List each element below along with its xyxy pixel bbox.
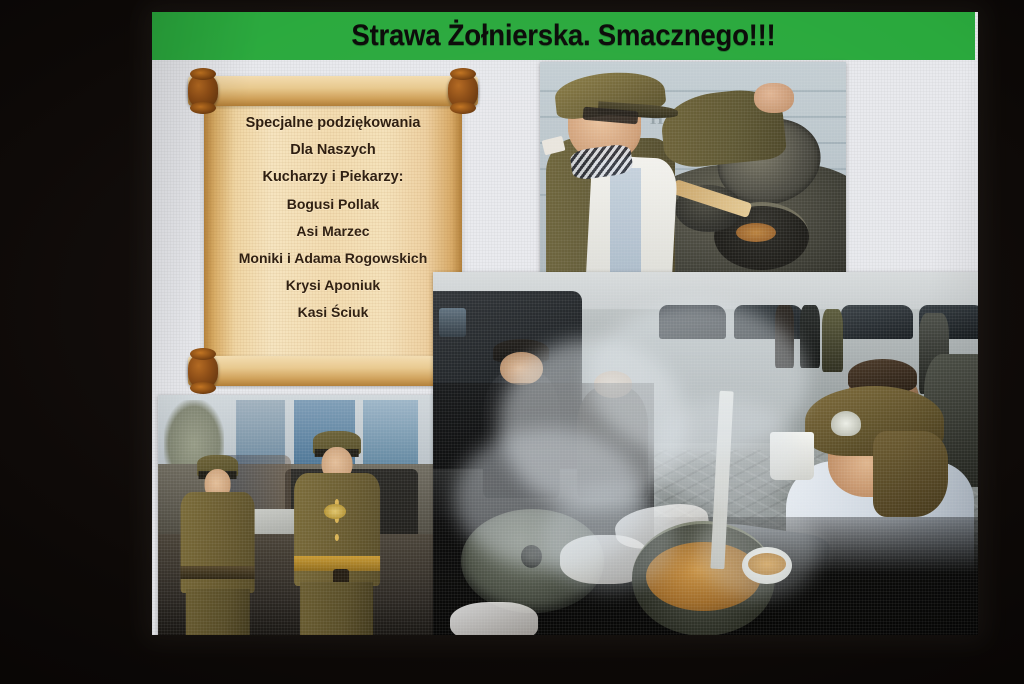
bystander-2 [800, 305, 820, 368]
trousers-right [300, 582, 374, 635]
thanks-name-1: Bogusi Pollak [287, 191, 380, 218]
parked-car-1 [659, 305, 725, 338]
parked-car-3 [841, 305, 913, 338]
van-window [439, 308, 466, 336]
cook-hand [754, 83, 794, 113]
photo-two-soldiers [158, 395, 435, 635]
thanks-name-4: Krysi Aponiuk [286, 272, 380, 299]
thanks-name-5: Kasi Ściuk [298, 299, 369, 326]
soup-broth [646, 542, 761, 611]
ushanka-ear-flap [873, 431, 948, 517]
lid-knob [521, 545, 543, 568]
soup-bowl [742, 547, 792, 584]
thanks-heading-line-3: Kucharzy i Piekarzy: [262, 164, 403, 191]
bystander-3 [822, 309, 843, 372]
apron-shadow [610, 168, 641, 274]
thanks-heading-line-1: Specjalne podziękowania [246, 110, 421, 137]
soldier-left [180, 450, 255, 635]
projected-slide: Strawa Żołnierska. Smacznego!!! Specjaln… [152, 12, 978, 635]
thanks-name-2: Asi Marzec [296, 218, 369, 245]
scroll-knob-top-left [188, 73, 218, 109]
page-title: Strawa Żołnierska. Smacznego!!! [352, 19, 776, 53]
eagle-badge-icon [831, 411, 861, 436]
photo-field-kitchen-cook: HAN ITA [540, 62, 846, 274]
thanks-name-3: Moniki i Adama Rogowskich [239, 245, 428, 272]
slide-title-banner: Strawa Żołnierska. Smacznego!!! [152, 12, 975, 60]
scroll-knob-top-right [448, 73, 478, 109]
bystander-1 [775, 305, 794, 368]
scroll-knob-bottom-left [188, 353, 218, 389]
bread-bag-3 [450, 602, 538, 635]
soldier-right [294, 425, 380, 635]
breeches-left [185, 589, 249, 635]
paper-cup [770, 432, 814, 480]
food-in-kettle [736, 223, 776, 242]
bowl-contents [748, 553, 786, 575]
scroll-text-block: Specjalne podziękowania Dla Naszych Kuch… [206, 110, 460, 354]
thanks-heading-line-2: Dla Naszych [290, 137, 375, 164]
belt-left [180, 566, 255, 580]
photo-steaming-soup-service [433, 272, 978, 635]
scroll-roll-top [188, 76, 478, 106]
face-1 [500, 352, 543, 385]
